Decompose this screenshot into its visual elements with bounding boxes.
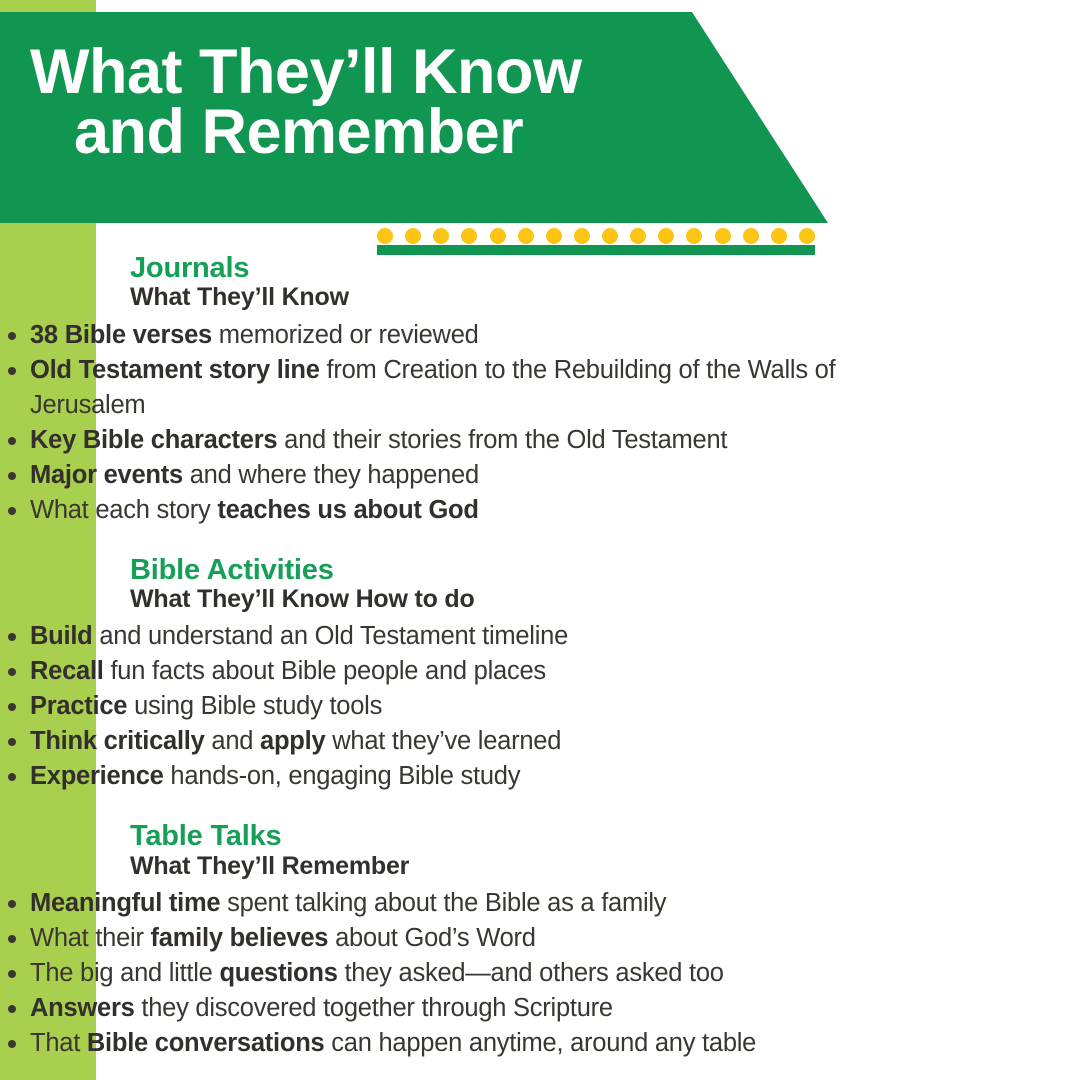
section-heading: Table Talks (130, 820, 1080, 852)
item-emphasis: Major events (30, 461, 183, 489)
list-item: Answers they discovered together through… (0, 991, 900, 1026)
item-text: and (205, 727, 260, 755)
divider-dot (546, 228, 562, 244)
item-emphasis: Practice (30, 692, 127, 720)
item-text: What each story (30, 496, 217, 524)
divider-dot (461, 228, 477, 244)
section-heading: Journals (130, 252, 1080, 284)
item-text: and understand an Old Testament timeline (93, 622, 569, 650)
section-table-talks: Table TalksWhat They’ll RememberMeaningf… (0, 820, 1080, 1061)
divider-dot (490, 228, 506, 244)
section-heading: Bible Activities (130, 554, 1080, 586)
list-item: That Bible conversations can happen anyt… (0, 1026, 900, 1061)
list-item: Think critically and apply what they’ve … (0, 724, 880, 759)
divider-dot (602, 228, 618, 244)
section-bible-activities: Bible ActivitiesWhat They’ll Know How to… (0, 554, 1080, 795)
item-text: using Bible study tools (127, 692, 382, 720)
bullet-list: Meaningful time spent talking about the … (0, 886, 900, 1061)
item-emphasis: Experience (30, 762, 164, 790)
item-emphasis: teaches us about God (217, 496, 478, 524)
item-emphasis: apply (260, 727, 325, 755)
item-text: they discovered together through Scriptu… (135, 994, 613, 1022)
divider-dot (377, 228, 393, 244)
list-item: Recall fun facts about Bible people and … (0, 654, 880, 689)
divider-dot (715, 228, 731, 244)
item-emphasis: family believes (151, 924, 329, 952)
item-text: fun facts about Bible people and places (104, 657, 546, 685)
item-text: hands-on, engaging Bible study (164, 762, 521, 790)
item-emphasis: Old Testament story line (30, 356, 320, 384)
list-item: Build and understand an Old Testament ti… (0, 619, 880, 654)
item-text: What their (30, 924, 151, 952)
dotted-divider (377, 226, 815, 246)
list-item: What their family believes about God’s W… (0, 921, 900, 956)
item-text: and their stories from the Old Testament (277, 426, 727, 454)
item-emphasis: Think critically (30, 727, 205, 755)
page-title: What They’ll Know and Remember (30, 42, 730, 163)
list-item: Experience hands-on, engaging Bible stud… (0, 759, 880, 794)
list-item: Major events and where they happened (0, 458, 880, 493)
item-text: memorized or reviewed (212, 321, 479, 349)
section-subheading: What They’ll Know (130, 284, 1080, 312)
list-item: Old Testament story line from Creation t… (0, 353, 880, 423)
list-item: Practice using Bible study tools (0, 689, 880, 724)
page-title-line-2: and Remember (30, 102, 730, 162)
divider-dot (405, 228, 421, 244)
divider-dot (658, 228, 674, 244)
list-item: What each story teaches us about God (0, 493, 880, 528)
divider-dot (630, 228, 646, 244)
divider-dot (686, 228, 702, 244)
bullet-list: Build and understand an Old Testament ti… (0, 619, 880, 794)
divider-dot (771, 228, 787, 244)
item-text: and where they happened (183, 461, 479, 489)
item-emphasis: Recall (30, 657, 104, 685)
item-emphasis: Build (30, 622, 93, 650)
list-item: 38 Bible verses memorized or reviewed (0, 318, 880, 353)
divider-dot (574, 228, 590, 244)
divider-dot (743, 228, 759, 244)
section-subheading: What They’ll Know How to do (130, 586, 1080, 614)
divider-dot (518, 228, 534, 244)
item-emphasis: Key Bible characters (30, 426, 277, 454)
content-area: JournalsWhat They’ll Know38 Bible verses… (0, 248, 1080, 1061)
list-item: The big and little questions they asked—… (0, 956, 900, 991)
item-text: spent talking about the Bible as a famil… (220, 889, 666, 917)
bullet-list: 38 Bible verses memorized or reviewedOld… (0, 318, 880, 528)
list-item: Meaningful time spent talking about the … (0, 886, 900, 921)
item-emphasis: questions (219, 959, 337, 987)
divider-dot (799, 228, 815, 244)
list-item: Key Bible characters and their stories f… (0, 423, 880, 458)
item-text: That (30, 1029, 87, 1057)
item-text: The big and little (30, 959, 219, 987)
item-emphasis: 38 Bible verses (30, 321, 212, 349)
section-journals: JournalsWhat They’ll Know38 Bible verses… (0, 252, 1080, 528)
item-text: what they’ve learned (325, 727, 561, 755)
section-subheading: What They’ll Remember (130, 853, 1080, 881)
item-text: about God’s Word (328, 924, 535, 952)
item-text: they asked—and others asked too (338, 959, 724, 987)
divider-dot (433, 228, 449, 244)
item-emphasis: Meaningful time (30, 889, 220, 917)
item-emphasis: Answers (30, 994, 135, 1022)
poster-root: What They’ll Know and Remember JournalsW… (0, 0, 1080, 1080)
item-text: can happen anytime, around any table (324, 1029, 756, 1057)
header-banner: What They’ll Know and Remember (0, 12, 830, 223)
item-emphasis: Bible conversations (87, 1029, 325, 1057)
